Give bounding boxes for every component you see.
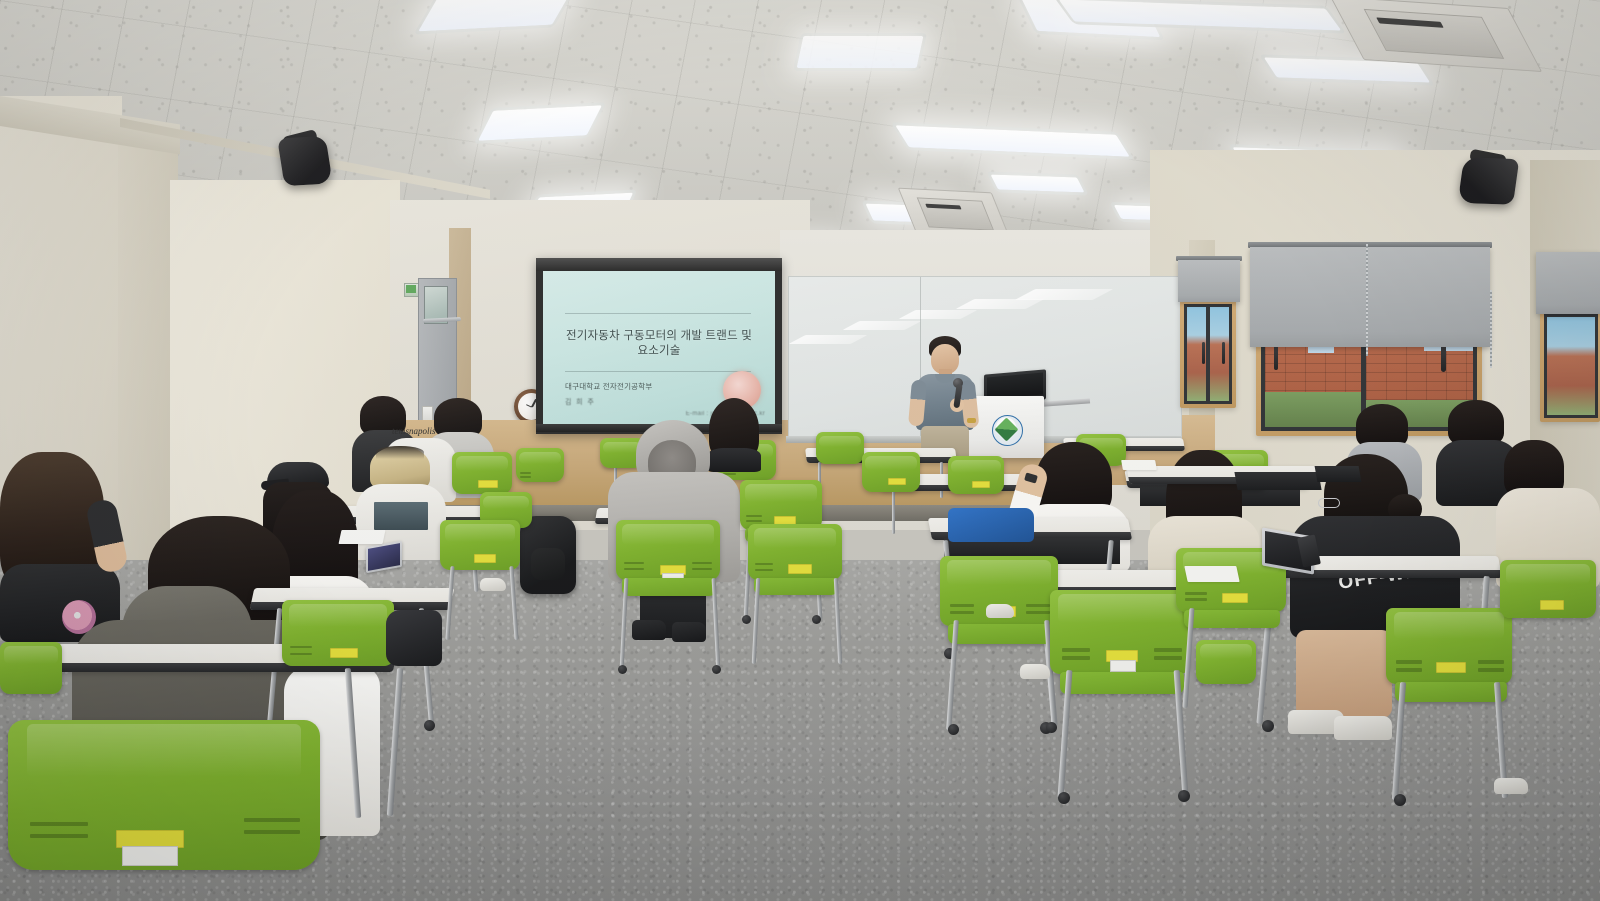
window-blind-main[interactable] — [1250, 247, 1490, 347]
equipment-dark-box — [1315, 466, 1362, 482]
exit-sign-icon — [406, 285, 416, 293]
wall-speaker-left — [277, 136, 333, 186]
presenter-watch — [967, 418, 976, 423]
chair-caster — [948, 724, 959, 735]
shirt-graphic — [374, 502, 428, 530]
presenter — [905, 336, 985, 461]
shoe — [480, 578, 506, 591]
slide-title-line2: 요소기술 — [551, 344, 767, 359]
handheld-fan — [62, 600, 96, 634]
equipment-dark-box — [1234, 472, 1321, 490]
chair-caster — [812, 615, 821, 624]
table-caster — [424, 720, 435, 731]
shirt-script-text: tenisnapolis — [392, 426, 454, 436]
ceiling-light — [797, 36, 924, 68]
chair-caster — [618, 665, 627, 674]
window-blind-right[interactable] — [1536, 252, 1600, 314]
classroom-photo: 전기자동차 구동모터의 개발 트랜드 및 요소기술 대구대학교 전자전기공학부 … — [0, 0, 1600, 901]
table-caster — [1262, 720, 1274, 732]
slide-title-line1: 전기자동차 구동모터의 개발 트랜드 및 — [551, 329, 767, 344]
projection-screen-roller — [536, 258, 782, 271]
chair-caster — [1178, 790, 1190, 802]
chair-caster — [742, 615, 751, 624]
chair-caster — [1046, 722, 1057, 733]
chair-caster — [712, 665, 721, 674]
backpack-pocket — [531, 548, 565, 580]
paper-sheet — [1184, 566, 1239, 582]
shoe — [672, 622, 706, 642]
blind-pull-chain[interactable] — [1490, 290, 1492, 368]
shoe — [632, 620, 666, 640]
blind-pull-chain[interactable] — [1366, 244, 1368, 356]
bag-on-floor — [386, 610, 442, 666]
shoe — [1020, 664, 1050, 679]
wall-speaker-right — [1458, 157, 1520, 204]
blue-bag-on-desk — [948, 508, 1034, 542]
paper-sheet — [1121, 460, 1157, 470]
table-leg — [892, 490, 895, 534]
slide-presenter-name: 김 희 주 — [565, 397, 595, 407]
slide-affiliation: 대구대학교 전자전기공학부 — [565, 381, 652, 392]
chair-caster — [1058, 792, 1070, 804]
paper-sheet — [339, 530, 386, 544]
shoe — [1334, 716, 1392, 740]
hair-dark-roots — [376, 446, 424, 459]
shoe — [986, 604, 1014, 618]
shoe — [1494, 778, 1528, 794]
chair-caster — [1394, 794, 1406, 806]
window-far — [1180, 300, 1236, 408]
legs — [1296, 630, 1392, 718]
window-blind-far[interactable] — [1178, 260, 1240, 302]
window-right-edge — [1540, 310, 1600, 422]
glasses-icon — [1318, 498, 1340, 508]
